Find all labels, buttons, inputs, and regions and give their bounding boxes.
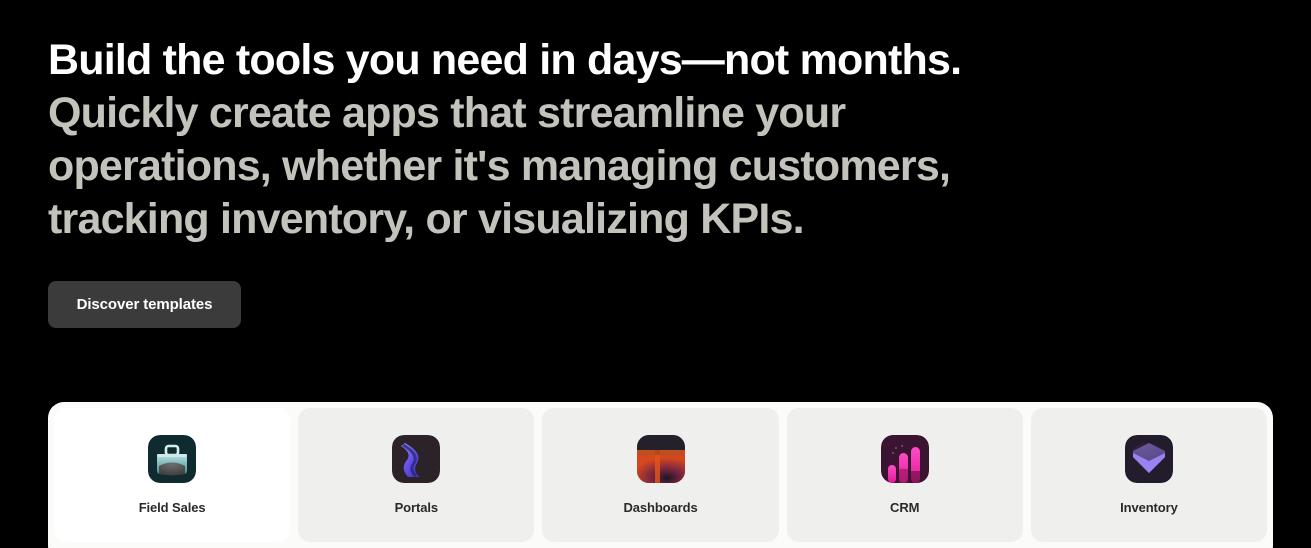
inventory-box-icon bbox=[1125, 435, 1173, 483]
template-card-label: Inventory bbox=[1120, 500, 1178, 516]
template-card-inventory[interactable]: Inventory bbox=[1031, 408, 1267, 542]
template-card-label: Field Sales bbox=[139, 500, 206, 516]
template-card-portals[interactable]: Portals bbox=[298, 408, 534, 542]
portals-wave-icon bbox=[392, 435, 440, 483]
crm-bar-chart-icon bbox=[881, 435, 929, 483]
dashboards-gradient-icon bbox=[637, 435, 685, 483]
hero-page: Build the tools you need in days—not mon… bbox=[0, 0, 1311, 548]
template-card-label: Dashboards bbox=[623, 500, 697, 516]
hero-text-block: Build the tools you need in days—not mon… bbox=[48, 34, 1263, 246]
template-card-label: Portals bbox=[395, 500, 438, 516]
field-sales-briefcase-icon bbox=[148, 435, 196, 483]
page-title: Build the tools you need in days—not mon… bbox=[48, 34, 1263, 87]
template-card-label: CRM bbox=[890, 500, 919, 516]
template-card-field-sales[interactable]: Field Sales bbox=[54, 408, 290, 542]
template-carousel: Field Sales Portals bbox=[48, 402, 1273, 548]
page-subtitle: Quickly create apps that streamline your… bbox=[48, 87, 1058, 246]
template-card-dashboards[interactable]: Dashboards bbox=[542, 408, 778, 542]
template-card-crm[interactable]: CRM bbox=[787, 408, 1023, 542]
discover-templates-button[interactable]: Discover templates bbox=[48, 281, 241, 328]
